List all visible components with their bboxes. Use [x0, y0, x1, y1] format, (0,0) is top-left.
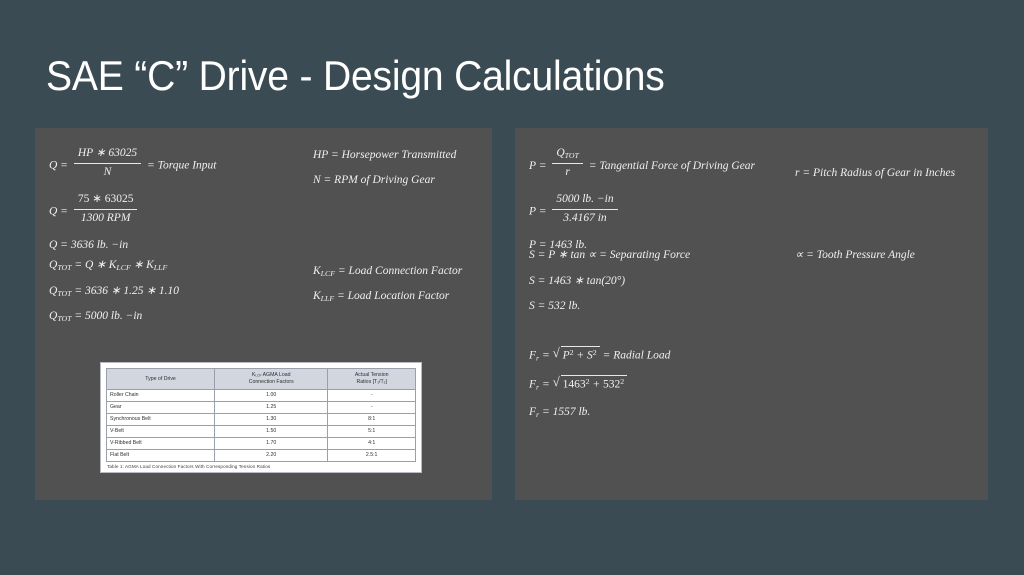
right-content-panel: P = QTOT r = Tangential Force of Driving… [515, 128, 988, 500]
klcf-header-line2: Connection Factors [249, 379, 294, 385]
cell-load-factor: 1.00 [215, 390, 328, 402]
radial-eq1-p: P [563, 350, 570, 362]
tangential-equation-line-2: P = 5000 lb. −in 3.4167 in [529, 192, 755, 226]
qtot-eq2-sub: TOT [57, 289, 71, 298]
radial-eq3-symbol: F [529, 406, 536, 418]
table-row: Synchronous Belt 1.30 8:1 [107, 414, 416, 426]
torque-eq1-denominator: N [74, 164, 141, 181]
radial-eq1-symbol: F [529, 350, 536, 362]
radial-eq2-symbol: F [529, 379, 536, 391]
table-row: V-Belt 1.50 5:1 [107, 426, 416, 438]
tangential-eq1-denominator: r [552, 164, 583, 181]
cell-tension-ratio: 8:1 [328, 414, 416, 426]
radial-eq1-p-exponent: 2 [570, 348, 574, 357]
qtot-eq1-rhs: = Q ∗ K [74, 259, 116, 271]
page-title: SAE “C” Drive - Design Calculations [46, 52, 665, 100]
torque-legend-item-n: N = RPM of Driving Gear [313, 173, 456, 189]
radial-eq1-rhs: = Radial Load [603, 350, 671, 362]
radial-eq1-subscript: r [536, 354, 539, 363]
qtot-eq3-rest: = 5000 lb. −in [74, 310, 142, 322]
tangential-eq1-lhs: P = [529, 160, 546, 172]
torque-eq2-numerator: 75 ∗ 63025 [74, 192, 138, 210]
radial-eq1-equals: = [542, 350, 550, 362]
qtot-eq1-klcf-sub: LCF [116, 263, 130, 272]
klcf-symbol: K [313, 265, 321, 277]
radial-eq2-a-exponent: 2 [586, 377, 590, 386]
torque-eq2-denominator: 1300 RPM [74, 210, 138, 227]
radial-equation-line-1: Fr = P2 + S2 = Radial Load [529, 346, 670, 364]
table-row: Flat Belt 2.20 2.5:1 [107, 450, 416, 462]
tension-header-post: ] [385, 379, 386, 385]
torque-equation-line-2: Q = 75 ∗ 63025 1300 RPM [49, 192, 217, 226]
column-header-type-of-drive: Type of Drive [107, 369, 215, 390]
tangential-eq1-fraction: QTOT r [552, 146, 583, 180]
radial-load-block: Fr = P2 + S2 = Radial Load Fr = 14632 + … [529, 346, 670, 429]
radial-eq2-b: 532 [603, 379, 620, 391]
klcf-header-rest: AGMA Load [261, 372, 290, 378]
cell-tension-ratio: 5:1 [328, 426, 416, 438]
cell-drive-type: V-Belt [107, 426, 215, 438]
radial-eq2-equals: = [542, 379, 550, 391]
table-row: V-Ribbed Belt 1.70 4:1 [107, 438, 416, 450]
tangential-eq1-numerator: QTOT [552, 146, 583, 164]
pitch-radius-legend: r = Pitch Radius of Gear in Inches [795, 166, 955, 182]
qtot-eq3-sub: TOT [57, 315, 71, 324]
qtot-numerator-subscript: TOT [565, 151, 579, 160]
torque-legend-item-hp: HP = Horsepower Transmitted [313, 148, 456, 164]
radial-eq2-a: 1463 [563, 379, 586, 391]
table-row: Gear 1.25 - [107, 402, 416, 414]
column-header-tension-ratios: Actual Tension Ratios [T1/T2] [328, 369, 416, 390]
pressure-angle-legend: ∝ = Tooth Pressure Angle [795, 248, 915, 264]
qtot-equation-block: QTOT = Q ∗ KLCF ∗ KLLF QTOT = 3636 ∗ 1.2… [49, 258, 179, 334]
tangential-equation-line-1: P = QTOT r = Tangential Force of Driving… [529, 146, 755, 180]
cell-load-factor: 2.20 [215, 450, 328, 462]
cell-load-factor: 1.25 [215, 402, 328, 414]
tangential-eq2-lhs: P = [529, 206, 546, 218]
torque-legend-block: HP = Horsepower Transmitted N = RPM of D… [313, 148, 456, 197]
cell-load-factor: 1.70 [215, 438, 328, 450]
cell-tension-ratio: - [328, 402, 416, 414]
cell-drive-type: Roller Chain [107, 390, 215, 402]
radial-eq2-subscript: r [536, 383, 539, 392]
qtot-equation-line-2: QTOT = 3636 ∗ 1.25 ∗ 1.10 [49, 284, 179, 300]
torque-equation-block: Q = HP ∗ 63025 N = Torque Input Q = 75 ∗… [49, 146, 217, 263]
qtot-numerator-symbol: Q [556, 147, 564, 159]
radial-eq3-subscript: r [536, 410, 539, 419]
torque-eq1-rhs: = Torque Input [147, 160, 217, 172]
table-header-row: Type of Drive KLCF AGMA Load Connection … [107, 369, 416, 390]
kllf-subscript: LLF [321, 294, 334, 303]
cell-drive-type: V-Ribbed Belt [107, 438, 215, 450]
kllf-description: = Load Location Factor [337, 290, 449, 302]
radial-eq2-plus: + [592, 379, 600, 391]
torque-eq1-fraction: HP ∗ 63025 N [74, 146, 141, 180]
table-caption: Table 1: AGMA Load Connection Factors Wi… [106, 462, 416, 470]
klcf-description: = Load Connection Factor [338, 265, 462, 277]
qtot-legend-block: KLCF = Load Connection Factor KLLF = Loa… [313, 264, 462, 313]
tension-header-line1: Actual Tension [355, 372, 389, 378]
radial-equation-line-3: Fr = 1557 lb. [529, 405, 670, 421]
torque-eq2-lhs: Q = [49, 206, 68, 218]
radial-eq2-sqrt: 14632 + 5322 [553, 375, 628, 393]
radial-eq3-rest: = 1557 lb. [542, 406, 590, 418]
cell-drive-type: Synchronous Belt [107, 414, 215, 426]
qtot-legend-item-klcf: KLCF = Load Connection Factor [313, 264, 462, 280]
torque-eq1-lhs: Q = [49, 160, 68, 172]
agma-factors-table-figure: Type of Drive KLCF AGMA Load Connection … [100, 362, 422, 473]
tangential-eq2-numerator: 5000 lb. −in [552, 192, 617, 210]
cell-drive-type: Flat Belt [107, 450, 215, 462]
tangential-eq2-denominator: 3.4167 in [552, 210, 617, 227]
torque-equation-line-1: Q = HP ∗ 63025 N = Torque Input [49, 146, 217, 180]
slide-canvas: SAE “C” Drive - Design Calculations Q = … [0, 0, 1024, 575]
agma-factors-table: Type of Drive KLCF AGMA Load Connection … [106, 368, 416, 462]
cell-tension-ratio: 4:1 [328, 438, 416, 450]
table-header: Type of Drive KLCF AGMA Load Connection … [107, 369, 416, 390]
torque-eq1-numerator: HP ∗ 63025 [74, 146, 141, 164]
column-header-load-connection-factors: KLCF AGMA Load Connection Factors [215, 369, 328, 390]
tangential-eq1-rhs: = Tangential Force of Driving Gear [589, 160, 755, 172]
cell-tension-ratio: - [328, 390, 416, 402]
klcf-subscript: LCF [321, 269, 335, 278]
qtot-eq2-rest: = 3636 ∗ 1.25 ∗ 1.10 [74, 285, 179, 297]
qtot-eq1-kllf-sub: LLF [154, 263, 167, 272]
radial-eq2-b-exponent: 2 [620, 377, 624, 386]
separating-equation-line-3: S = 532 lb. [529, 299, 690, 315]
cell-drive-type: Gear [107, 402, 215, 414]
cell-load-factor: 1.50 [215, 426, 328, 438]
tangential-eq2-fraction: 5000 lb. −in 3.4167 in [552, 192, 617, 226]
separating-equation-line-1: S = P ∗ tan ∝ = Separating Force [529, 248, 690, 264]
separating-equation-line-2: S = 1463 ∗ tan(20°) [529, 274, 690, 290]
table-row: Roller Chain 1.00 - [107, 390, 416, 402]
radial-eq1-sqrt: P2 + S2 [553, 346, 600, 364]
separating-force-block: S = P ∗ tan ∝ = Separating Force S = 146… [529, 248, 690, 324]
radial-eq1-s-exponent: 2 [593, 348, 597, 357]
radial-eq1-plus: + [576, 350, 584, 362]
qtot-equation-line-3: QTOT = 5000 lb. −in [49, 309, 179, 325]
cell-tension-ratio: 2.5:1 [328, 450, 416, 462]
tension-header-pre: Ratios [T [356, 379, 377, 385]
tangential-force-block: P = QTOT r = Tangential Force of Driving… [529, 146, 755, 263]
qtot-eq1-sub: TOT [57, 263, 71, 272]
kllf-symbol: K [313, 290, 321, 302]
cell-load-factor: 1.30 [215, 414, 328, 426]
torque-eq2-fraction: 75 ∗ 63025 1300 RPM [74, 192, 138, 226]
qtot-legend-item-kllf: KLLF = Load Location Factor [313, 289, 462, 305]
qtot-eq1-mid: ∗ K [134, 259, 154, 271]
qtot-equation-line-1: QTOT = Q ∗ KLCF ∗ KLLF [49, 258, 179, 274]
radial-equation-line-2: Fr = 14632 + 5322 [529, 375, 670, 393]
torque-equation-line-3: Q = 3636 lb. −in [49, 238, 217, 254]
table-body: Roller Chain 1.00 - Gear 1.25 - Synchron… [107, 390, 416, 462]
